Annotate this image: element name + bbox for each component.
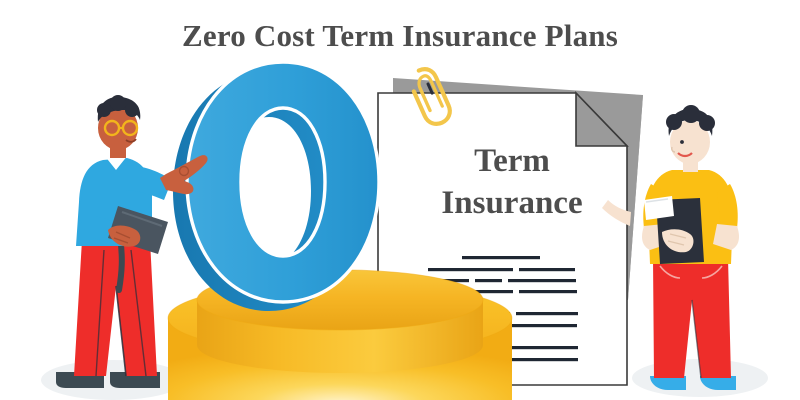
page-title: Zero Cost Term Insurance Plans: [0, 18, 800, 54]
document-title-line-1: Term: [474, 143, 550, 179]
document-text-line-segment: [508, 279, 576, 282]
document-title-line-2: Insurance: [417, 182, 607, 224]
document-text-line-segment: [505, 358, 578, 361]
document-text-line-segment: [516, 312, 578, 315]
insurance-banner: Zero Cost Term Insurance Plans Term Insu…: [0, 0, 800, 400]
document-text-line-segment: [475, 279, 502, 282]
banner-illustration: [0, 0, 800, 400]
document-text-line-segment: [519, 268, 575, 271]
document-text-line-segment: [519, 290, 577, 293]
document-text-line-segment: [428, 268, 513, 271]
right-figure-eye: [680, 140, 684, 144]
document-text-line-segment: [462, 256, 540, 259]
document-title: Term Insurance: [417, 140, 607, 224]
